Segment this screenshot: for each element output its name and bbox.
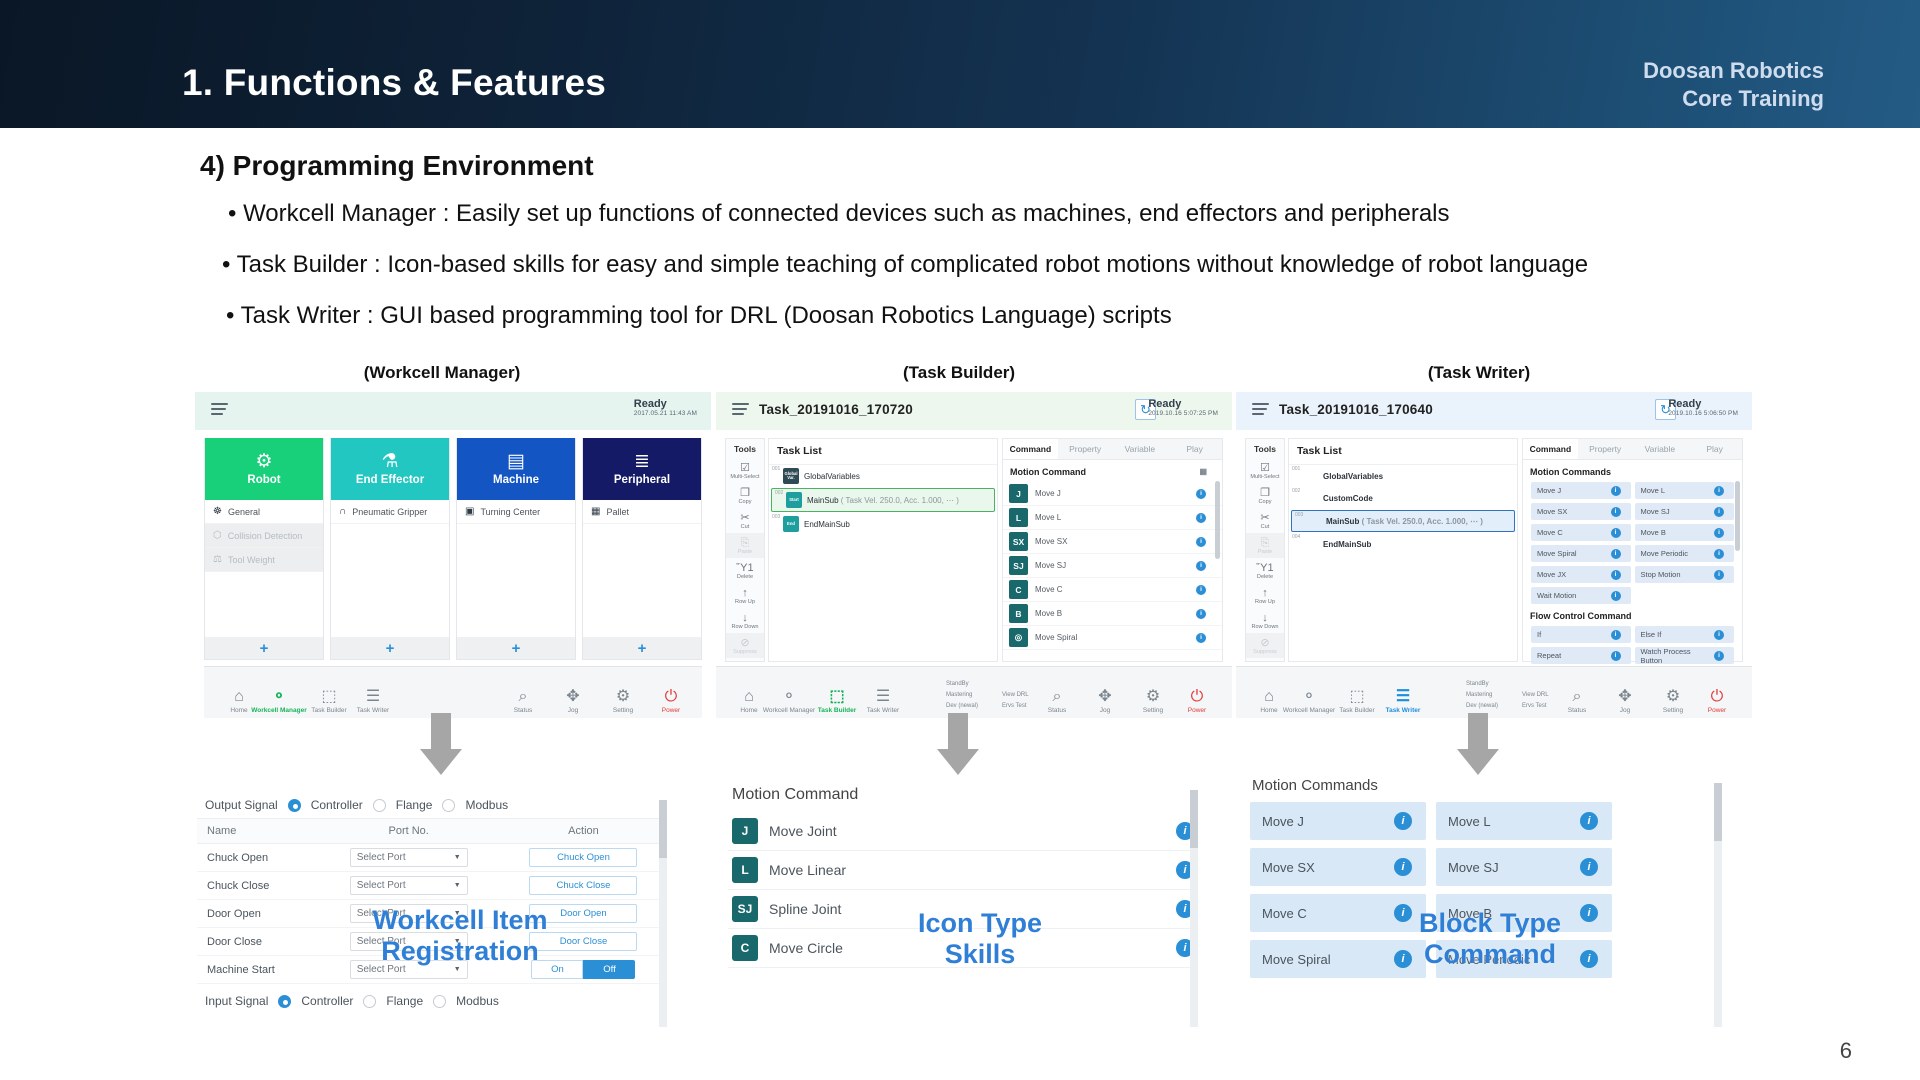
- status-block: Ready 2019.10.16 5:06:50 PM: [1668, 398, 1738, 417]
- move-l-icon: L: [1009, 508, 1028, 527]
- task-list-title: Task List: [769, 439, 997, 465]
- workcell-card-item[interactable]: ∩ Pneumatic Gripper: [331, 500, 449, 524]
- move-spiral-icon: ◎: [1009, 628, 1028, 647]
- workcell-card[interactable]: ⚙ Robot ☸ General ⬡ Collision Detection …: [204, 438, 324, 660]
- hamburger-menu-icon[interactable]: [732, 403, 749, 416]
- motion-command-row[interactable]: ◎ Move Spiral i: [1003, 626, 1222, 650]
- info-icon[interactable]: i: [1394, 858, 1412, 876]
- action-button[interactable]: Chuck Close: [529, 876, 637, 895]
- tool-multi-select[interactable]: ☑ Multi-Select: [726, 458, 764, 483]
- off-button[interactable]: Off: [583, 960, 635, 979]
- workcell-card-item[interactable]: ▦ Pallet: [583, 500, 701, 524]
- nav-task-writer[interactable]: ☰ Task Writer: [344, 688, 402, 714]
- flow-control-heading: Flow Control Command: [1523, 604, 1742, 626]
- command-block[interactable]: Move SJ i: [1436, 848, 1612, 886]
- workcell-card-header[interactable]: ⚙ Robot: [205, 438, 323, 500]
- scrollbar[interactable]: [659, 800, 667, 1027]
- down-arrow-workcell: [420, 713, 462, 775]
- page-title: 1. Functions & Features: [182, 62, 606, 104]
- task-name-label: Task_20191016_170640: [1279, 402, 1433, 417]
- move-sx-icon: SX: [1009, 532, 1028, 551]
- bullet-task-builder: • Task Builder : Icon-based skills for e…: [222, 251, 1588, 279]
- scrollbar-thumb[interactable]: [1735, 481, 1740, 551]
- status-badge: Ready: [1148, 398, 1218, 410]
- port-select[interactable]: Select Port▼: [350, 848, 468, 867]
- annotation-block-type-command: Block Type Command: [1380, 908, 1600, 970]
- tool-delete[interactable]: Ὕ1 Delete: [726, 558, 764, 583]
- column-header: Name: [197, 819, 317, 844]
- device-top-bar: Task_20191016_170720 ↻ Ready 2019.10.16 …: [716, 392, 1232, 430]
- command-block[interactable]: Move Ji: [1531, 482, 1631, 499]
- signal-name: Chuck Open: [197, 844, 317, 872]
- skill-row[interactable]: L Move Linear i: [728, 851, 1198, 890]
- status-badge: Ready: [634, 398, 697, 410]
- task-list-panel: Task List 001 GlobalVariables 002 Custom…: [1288, 438, 1518, 662]
- motion-command-row[interactable]: C Move C i: [1003, 578, 1222, 602]
- command-block[interactable]: Move SXi: [1531, 503, 1631, 520]
- task-writer-icon: ☰: [344, 688, 402, 706]
- info-icon[interactable]: i: [1580, 812, 1598, 830]
- hamburger-menu-icon[interactable]: [211, 403, 228, 416]
- row-up-icon: ↑: [1246, 587, 1284, 599]
- info-icon[interactable]: i: [1196, 489, 1206, 499]
- scrollbar[interactable]: [1190, 790, 1198, 1027]
- status-block: Ready 2019.10.16 5:07:25 PM: [1148, 398, 1218, 417]
- workcell-card-item[interactable]: ▣ Turning Center: [457, 500, 575, 524]
- signal-name: Door Open: [197, 900, 317, 928]
- motion-command-row[interactable]: SJ Move SJ i: [1003, 554, 1222, 578]
- move-circle-icon: C: [732, 935, 758, 961]
- task-row[interactable]: 003 End EndMainSub: [769, 513, 997, 535]
- spline-joint-icon: SJ: [732, 896, 758, 922]
- tool-row-down[interactable]: ↓ Row Down: [1246, 608, 1284, 633]
- chevron-down-icon: ▼: [454, 854, 461, 861]
- tools-title: Tools: [726, 439, 764, 458]
- tool-copy[interactable]: ❐ Copy: [726, 483, 764, 508]
- workcell-card-item[interactable]: ⚖ Tool Weight: [205, 548, 323, 572]
- hamburger-menu-icon[interactable]: [1252, 403, 1269, 416]
- nav-extra-group[interactable]: StandByMasteringDev (newal): [1466, 679, 1498, 712]
- workcell-card-header[interactable]: ⚗ End Effector: [331, 438, 449, 500]
- option-modbus-label: Modbus: [456, 994, 499, 1008]
- action-button[interactable]: Chuck Open: [529, 848, 637, 867]
- column-header: Port No.: [317, 819, 500, 844]
- add-item-button[interactable]: +: [583, 637, 701, 659]
- command-block[interactable]: Move J i: [1250, 802, 1426, 840]
- down-arrow-builder: [937, 713, 979, 775]
- tool-row-up[interactable]: ↑ Row Up: [726, 583, 764, 608]
- pallet-icon: ▦: [591, 506, 600, 517]
- command-block[interactable]: Wait Motioni: [1531, 587, 1631, 604]
- tools-column: Tools ☑ Multi-Select❐ Copy✂ Cut⎘ PasteὝ1…: [1245, 438, 1285, 662]
- move-b-icon: B: [1009, 604, 1028, 623]
- copy-icon: ❐: [726, 487, 764, 499]
- delete-icon: Ὕ1: [1246, 562, 1284, 574]
- info-icon[interactable]: i: [1611, 549, 1621, 559]
- workcell-card-header[interactable]: ≣ Peripheral: [583, 438, 701, 500]
- workcell-card-header[interactable]: ▤ Machine: [457, 438, 575, 500]
- port-select[interactable]: Select Port▼: [350, 876, 468, 895]
- multi-select-icon: ☑: [726, 462, 764, 474]
- tools-column: Tools ☑ Multi-Select❐ Copy✂ Cut⎘ PasteὝ1…: [725, 438, 765, 662]
- motion-command-heading: Motion Command ▦: [1003, 460, 1222, 482]
- move-linear-icon: L: [732, 857, 758, 883]
- command-block[interactable]: Else Ifi: [1635, 626, 1735, 643]
- turning-center-icon: ▣: [465, 506, 474, 517]
- info-icon[interactable]: i: [1196, 633, 1206, 643]
- info-icon[interactable]: i: [1714, 507, 1724, 517]
- nav-task-writer[interactable]: ☰ Task Writer: [1374, 688, 1432, 714]
- info-icon[interactable]: i: [1394, 812, 1412, 830]
- radio-controller-output[interactable]: [288, 799, 301, 812]
- task-list-title: Task List: [1289, 439, 1517, 465]
- radio-flange-output[interactable]: [373, 799, 386, 812]
- tool-weight-icon: ⚖: [213, 554, 222, 565]
- info-icon[interactable]: i: [1611, 507, 1621, 517]
- option-flange-label: Flange: [386, 994, 423, 1008]
- status-timestamp: 2019.10.16 5:06:50 PM: [1668, 410, 1738, 417]
- command-block[interactable]: Repeati: [1531, 647, 1631, 664]
- slide-header-bar: 1. Functions & Features Doosan Robotics …: [0, 0, 1920, 128]
- input-signal-row: Input Signal Controller Flange Modbus: [197, 984, 667, 1014]
- tool-copy[interactable]: ❐ Copy: [1246, 483, 1284, 508]
- motion-commands-heading: Motion Commands: [1523, 460, 1742, 482]
- info-icon[interactable]: i: [1714, 570, 1724, 580]
- move-c-icon: C: [1009, 580, 1028, 599]
- table-header-row: NamePort No.Action: [197, 819, 667, 844]
- command-block[interactable]: Move SJi: [1635, 503, 1735, 520]
- info-icon[interactable]: i: [1611, 651, 1621, 661]
- section-title: 4) Programming Environment: [200, 150, 594, 182]
- chevron-down-icon: ▼: [454, 882, 461, 889]
- tool-paste: ⎘ Paste: [1246, 533, 1284, 558]
- pneumatic-gripper-icon: ∩: [339, 506, 346, 517]
- grid-view-icon[interactable]: ▦: [1199, 467, 1206, 476]
- brand-block: Doosan Robotics Core Training: [1643, 57, 1824, 113]
- info-icon[interactable]: i: [1611, 591, 1621, 601]
- tab-command[interactable]: Command: [1003, 439, 1058, 459]
- workcell-card[interactable]: ≣ Peripheral ▦ Pallet +: [582, 438, 702, 660]
- row-up-icon: ↑: [726, 587, 764, 599]
- caption-workcell-manager: (Workcell Manager): [292, 363, 592, 383]
- task-row[interactable]: 001 GlobalVariables: [1289, 465, 1517, 487]
- power-icon: ⏻: [1168, 688, 1226, 706]
- add-item-button[interactable]: +: [205, 637, 323, 659]
- add-item-button[interactable]: +: [457, 637, 575, 659]
- motion-command-title: Motion Command: [1010, 467, 1086, 477]
- command-tabs: CommandPropertyVariablePlay: [1523, 439, 1742, 460]
- skill-row[interactable]: J Move Joint i: [728, 812, 1198, 851]
- brand-line-2: Core Training: [1643, 85, 1824, 113]
- output-signal-label: Output Signal: [205, 798, 278, 812]
- signal-name: Machine Start: [197, 956, 317, 984]
- move-joint-icon: J: [732, 818, 758, 844]
- move-j-icon: J: [1009, 484, 1028, 503]
- info-icon[interactable]: i: [1611, 570, 1621, 580]
- info-icon[interactable]: i: [1714, 549, 1724, 559]
- row-down-icon: ↓: [726, 612, 764, 624]
- task-writer-icon: ☰: [854, 688, 912, 706]
- command-block[interactable]: Ifi: [1531, 626, 1631, 643]
- command-block[interactable]: Move JXi: [1531, 566, 1631, 583]
- motion-command-title: Motion Command: [728, 782, 1198, 812]
- nav-extra-group[interactable]: View DRLErvs Test: [1002, 690, 1029, 712]
- task-row[interactable]: 003 MainSub ( Task Vel. 250.0, Acc. 1.00…: [1291, 510, 1515, 532]
- output-signal-row: Output Signal Controller Flange Modbus: [197, 792, 667, 818]
- device-bottom-nav: ⌂ Home⚬ Workcell Manager⬚ Task Builder☰ …: [1236, 666, 1752, 718]
- tab-property[interactable]: Property: [1578, 439, 1633, 459]
- add-item-button[interactable]: +: [331, 637, 449, 659]
- info-icon[interactable]: i: [1611, 630, 1621, 640]
- info-icon[interactable]: i: [1714, 528, 1724, 538]
- info-icon[interactable]: i: [1714, 486, 1724, 496]
- paste-icon: ⎘: [726, 537, 764, 549]
- task-row-chip: End: [783, 516, 799, 532]
- move-sj-icon: SJ: [1009, 556, 1028, 575]
- table-row: Chuck Open Select Port▼ Chuck Open: [197, 844, 667, 872]
- screenshot-task-builder: Task_20191016_170720 ↻ Ready 2019.10.16 …: [716, 392, 1232, 718]
- task-row-chip: Start: [786, 492, 802, 508]
- tool-paste: ⎘ Paste: [726, 533, 764, 558]
- general-icon: ☸: [213, 506, 222, 517]
- tool-suppress: ⊘ Suppress: [1246, 633, 1284, 658]
- paste-icon: ⎘: [1246, 537, 1284, 549]
- cut-icon: ✂: [726, 512, 764, 524]
- tab-play[interactable]: Play: [1687, 439, 1742, 459]
- motion-command-row[interactable]: J Move J i: [1003, 482, 1222, 506]
- annotation-icon-type-skills: Icon Type Skills: [880, 908, 1080, 970]
- signal-name: Chuck Close: [197, 872, 317, 900]
- radio-flange-input[interactable]: [363, 995, 376, 1008]
- radio-modbus-input[interactable]: [433, 995, 446, 1008]
- task-row[interactable]: 004 EndMainSub: [1289, 533, 1517, 555]
- nav-extra-group[interactable]: StandByMasteringDev (newal): [946, 679, 978, 712]
- info-icon[interactable]: i: [1196, 561, 1206, 571]
- tool-cut[interactable]: ✂ Cut: [726, 508, 764, 533]
- tab-variable[interactable]: Variable: [1113, 439, 1168, 459]
- tab-variable[interactable]: Variable: [1633, 439, 1688, 459]
- workcell-card-item[interactable]: ☸ General: [205, 500, 323, 524]
- motion-command-row[interactable]: B Move B i: [1003, 602, 1222, 626]
- screenshot-workcell-manager: Ready 2017.05.21 11:43 AM ⚙ Robot ☸ Gene…: [195, 392, 711, 718]
- down-arrow-writer: [1457, 713, 1499, 775]
- nav-power[interactable]: ⏻ Power: [642, 688, 700, 714]
- option-modbus-label: Modbus: [465, 798, 508, 812]
- status-timestamp: 2017.05.21 11:43 AM: [634, 410, 697, 417]
- info-icon[interactable]: i: [1611, 486, 1621, 496]
- row-down-icon: ↓: [1246, 612, 1284, 624]
- collision-detection-icon: ⬡: [213, 530, 222, 541]
- task-row[interactable]: 002 Start MainSub ( Task Vel. 250.0, Acc…: [771, 488, 995, 512]
- cut-icon: ✂: [1246, 512, 1284, 524]
- radio-controller-input[interactable]: [278, 995, 291, 1008]
- brand-line-1: Doosan Robotics: [1643, 57, 1824, 85]
- motion-command-row[interactable]: SX Move SX i: [1003, 530, 1222, 554]
- task-writer-icon: ☰: [1374, 688, 1432, 706]
- info-icon[interactable]: i: [1196, 609, 1206, 619]
- command-block[interactable]: Move Spirali: [1531, 545, 1631, 562]
- command-block[interactable]: Move L i: [1436, 802, 1612, 840]
- info-icon[interactable]: i: [1196, 537, 1206, 547]
- tool-delete[interactable]: Ὕ1 Delete: [1246, 558, 1284, 583]
- nav-task-writer[interactable]: ☰ Task Writer: [854, 688, 912, 714]
- table-row: Chuck Close Select Port▼ Chuck Close: [197, 872, 667, 900]
- tab-property[interactable]: Property: [1058, 439, 1113, 459]
- robot-arm-icon: ⚙: [255, 452, 272, 471]
- command-panel: CommandPropertyVariablePlay Motion Comma…: [1522, 438, 1743, 662]
- info-icon[interactable]: i: [1196, 513, 1206, 523]
- nav-extra-group[interactable]: View DRLErvs Test: [1522, 690, 1549, 712]
- nav-power[interactable]: ⏻ Power: [1168, 688, 1226, 714]
- task-name-label: Task_20191016_170720: [759, 402, 913, 417]
- option-controller-label: Controller: [301, 994, 353, 1008]
- suppress-icon: ⊘: [726, 637, 764, 649]
- command-block[interactable]: Move Bi: [1635, 524, 1735, 541]
- info-icon[interactable]: i: [1580, 858, 1598, 876]
- zoom-block-type-command: Motion Commands Move J iMove L iMove SX …: [1250, 775, 1722, 1037]
- device-bottom-nav: ⌂ Home⚬ Workcell Manager⬚ Task Builder☰ …: [204, 666, 702, 718]
- machine-icon: ▤: [507, 452, 525, 471]
- task-row[interactable]: 002 CustomCode: [1289, 487, 1517, 509]
- command-block[interactable]: Move SX i: [1250, 848, 1426, 886]
- task-row-chip: Global Var.: [783, 468, 799, 484]
- option-flange-label: Flange: [396, 798, 433, 812]
- info-icon[interactable]: i: [1714, 651, 1724, 661]
- device-top-bar: Ready 2017.05.21 11:43 AM: [195, 392, 711, 430]
- device-top-bar: Task_20191016_170640 ↻ Ready 2019.10.16 …: [1236, 392, 1752, 430]
- info-icon[interactable]: i: [1714, 630, 1724, 640]
- suppress-icon: ⊘: [1246, 637, 1284, 649]
- peripheral-icon: ≣: [634, 452, 650, 471]
- tool-multi-select[interactable]: ☑ Multi-Select: [1246, 458, 1284, 483]
- status-block: Ready 2017.05.21 11:43 AM: [634, 398, 697, 417]
- column-header: Action: [500, 819, 667, 844]
- power-icon: ⏻: [1688, 688, 1746, 706]
- info-icon[interactable]: i: [1611, 528, 1621, 538]
- page-number: 6: [1840, 1038, 1852, 1064]
- device-bottom-nav: ⌂ Home⚬ Workcell Manager⬚ Task Builder☰ …: [716, 666, 1232, 718]
- task-list-panel: Task List 001 Global Var. GlobalVariable…: [768, 438, 998, 662]
- workcell-card[interactable]: ▤ Machine ▣ Turning Center +: [456, 438, 576, 660]
- command-block[interactable]: Watch Process Buttoni: [1635, 647, 1735, 664]
- caption-task-writer: (Task Writer): [1329, 363, 1629, 383]
- annotation-workcell-item-registration: Workcell Item Registration: [340, 905, 580, 967]
- tab-play[interactable]: Play: [1167, 439, 1222, 459]
- command-tabs: CommandPropertyVariablePlay: [1003, 439, 1222, 460]
- info-icon[interactable]: i: [1196, 585, 1206, 595]
- status-timestamp: 2019.10.16 5:07:25 PM: [1148, 410, 1218, 417]
- tool-cut[interactable]: ✂ Cut: [1246, 508, 1284, 533]
- signal-name: Door Close: [197, 928, 317, 956]
- tools-title: Tools: [1246, 439, 1284, 458]
- caption-task-builder: (Task Builder): [809, 363, 1109, 383]
- motion-commands-title: Motion Commands: [1250, 775, 1722, 802]
- motion-command-row[interactable]: L Move L i: [1003, 506, 1222, 530]
- radio-modbus-output[interactable]: [442, 799, 455, 812]
- scrollbar-thumb[interactable]: [1215, 481, 1220, 559]
- nav-power[interactable]: ⏻ Power: [1688, 688, 1746, 714]
- screenshot-task-writer: Task_20191016_170640 ↻ Ready 2019.10.16 …: [1236, 392, 1752, 718]
- command-block[interactable]: Move Periodici: [1635, 545, 1735, 562]
- tool-row-up[interactable]: ↑ Row Up: [1246, 583, 1284, 608]
- copy-icon: ❐: [1246, 487, 1284, 499]
- gripper-icon: ⚗: [381, 452, 398, 471]
- command-block[interactable]: Stop Motioni: [1635, 566, 1735, 583]
- command-panel: CommandPropertyVariablePlay Motion Comma…: [1002, 438, 1223, 662]
- tool-row-down[interactable]: ↓ Row Down: [726, 608, 764, 633]
- bullet-task-writer: • Task Writer : GUI based programming to…: [226, 302, 1172, 330]
- command-block[interactable]: Move Li: [1635, 482, 1735, 499]
- workcell-card[interactable]: ⚗ End Effector ∩ Pneumatic Gripper +: [330, 438, 450, 660]
- tool-suppress: ⊘ Suppress: [726, 633, 764, 658]
- tab-command[interactable]: Command: [1523, 439, 1578, 459]
- input-signal-label: Input Signal: [205, 994, 268, 1008]
- scrollbar[interactable]: [1714, 783, 1722, 1027]
- bullet-workcell-manager: • Workcell Manager : Easily set up funct…: [228, 200, 1450, 228]
- power-icon: ⏻: [642, 688, 700, 706]
- task-row[interactable]: 001 Global Var. GlobalVariables: [769, 465, 997, 487]
- workcell-card-grid: ⚙ Robot ☸ General ⬡ Collision Detection …: [204, 438, 702, 660]
- workcell-card-item[interactable]: ⬡ Collision Detection: [205, 524, 323, 548]
- delete-icon: Ὕ1: [726, 562, 764, 574]
- multi-select-icon: ☑: [1246, 462, 1284, 474]
- status-badge: Ready: [1668, 398, 1738, 410]
- command-block[interactable]: Move Ci: [1531, 524, 1631, 541]
- option-controller-label: Controller: [311, 798, 363, 812]
